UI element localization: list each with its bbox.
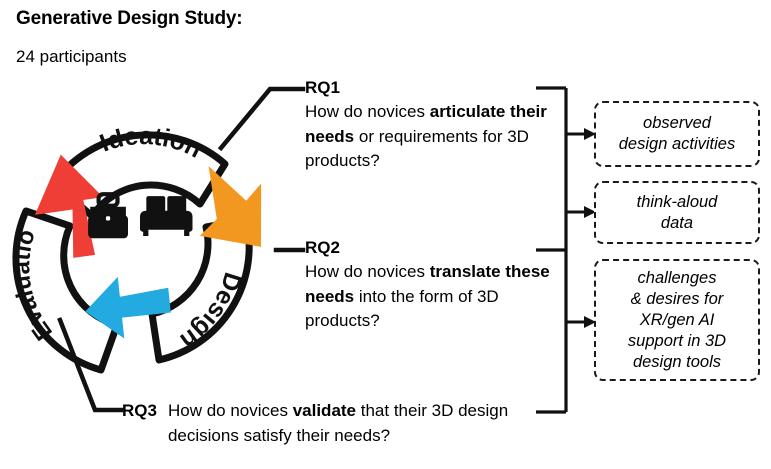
rq1-label: RQ1 <box>305 78 555 98</box>
bracket-arrow-2 <box>566 206 596 218</box>
outcome-challenges-desires: challenges & desires for XR/gen AI suppo… <box>594 259 760 381</box>
rq3-text: How do novices validate that their 3D de… <box>168 399 562 448</box>
outcome-3-text: challenges & desires for XR/gen AI suppo… <box>628 268 726 373</box>
design-cycle-diagram: Ideation Design Evaluation <box>0 70 300 420</box>
figure-canvas: Generative Design Study: 24 participants… <box>0 0 771 469</box>
bracket-arrow-3 <box>566 316 596 328</box>
research-question-rq3: RQ3 How do novices validate that their 3… <box>122 399 562 448</box>
rq1-text: How do novices articulate their needs or… <box>305 100 555 174</box>
page-title: Generative Design Study: <box>16 8 242 30</box>
research-question-rq1: RQ1 How do novices articulate their need… <box>305 78 555 174</box>
outcome-observed-design-activities: observed design activities <box>594 101 760 167</box>
research-question-rq2: RQ2 How do novices translate these needs… <box>305 238 555 334</box>
participants-count: 24 participants <box>16 47 127 67</box>
rq2-label: RQ2 <box>305 238 555 258</box>
outcome-2-text: think-aloud data <box>637 192 718 234</box>
outcome-1-text: observed design activities <box>619 113 735 155</box>
bracket-arrow-1 <box>566 128 596 140</box>
outcome-think-aloud-data: think-aloud data <box>594 181 760 244</box>
rq3-label: RQ3 <box>122 401 157 421</box>
sofa-icon <box>140 196 193 236</box>
rq2-text: How do novices translate these needs int… <box>305 260 555 334</box>
